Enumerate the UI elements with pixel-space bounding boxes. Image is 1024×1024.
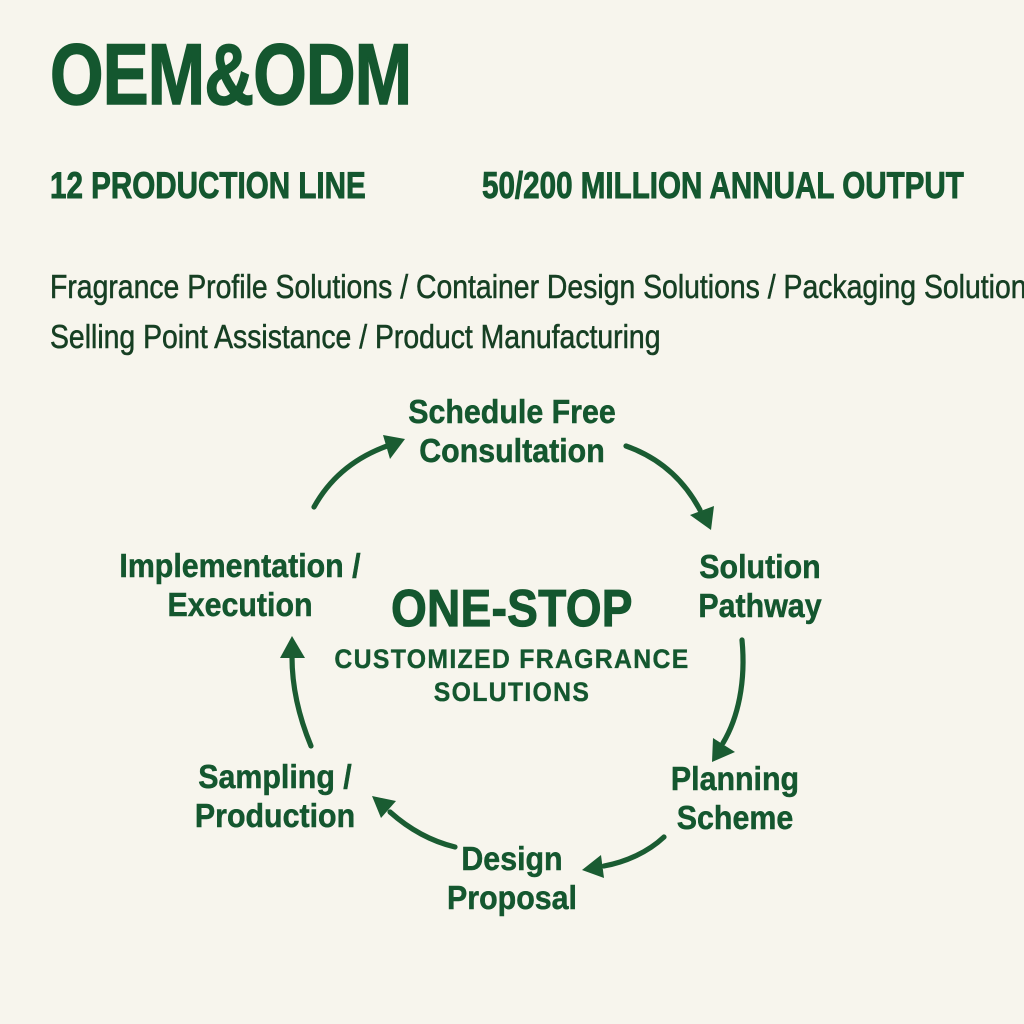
cycle-center-subtext-line-2: SOLUTIONS (328, 676, 696, 710)
services-list: Fragrance Profile Solutions / Container … (50, 262, 1024, 362)
arrow-sampling-to-implementation-icon (280, 636, 311, 746)
cycle-step-schedule-free-consultation[interactable]: Schedule Free Consultation (374, 393, 650, 471)
cycle-diagram: Schedule Free Consultation Solution Path… (0, 360, 1024, 960)
cycle-center-headline: ONE-STOP (336, 582, 688, 637)
stats-row: 12 PRODUCTION LINE 50/200 MILLION ANNUAL… (50, 167, 1010, 211)
header-block: OEM&ODM 12 PRODUCTION LINE 50/200 MILLIO… (50, 34, 1010, 117)
service-line-2: Selling Point Assistance / Product Manuf… (50, 312, 919, 362)
cycle-center-subtext: CUSTOMIZED FRAGRANCE SOLUTIONS (328, 643, 696, 711)
cycle-center-label: ONE-STOP CUSTOMIZED FRAGRANCE SOLUTIONS (312, 582, 712, 710)
arrow-solution-to-planning-icon (712, 640, 743, 762)
poster-canvas: OEM&ODM 12 PRODUCTION LINE 50/200 MILLIO… (0, 0, 1024, 1024)
page-title: OEM&ODM (50, 34, 818, 117)
service-line-1: Fragrance Profile Solutions / Container … (50, 262, 919, 312)
cycle-step-design-proposal[interactable]: Design Proposal (402, 840, 623, 918)
cycle-center-subtext-line-1: CUSTOMIZED FRAGRANCE (328, 643, 696, 677)
cycle-step-sampling-production[interactable]: Sampling / Production (155, 758, 394, 836)
stat-annual-output: 50/200 MILLION ANNUAL OUTPUT (482, 167, 964, 204)
cycle-step-planning-scheme[interactable]: Planning Scheme (615, 760, 854, 838)
stat-production-line: 12 PRODUCTION LINE (50, 167, 366, 204)
